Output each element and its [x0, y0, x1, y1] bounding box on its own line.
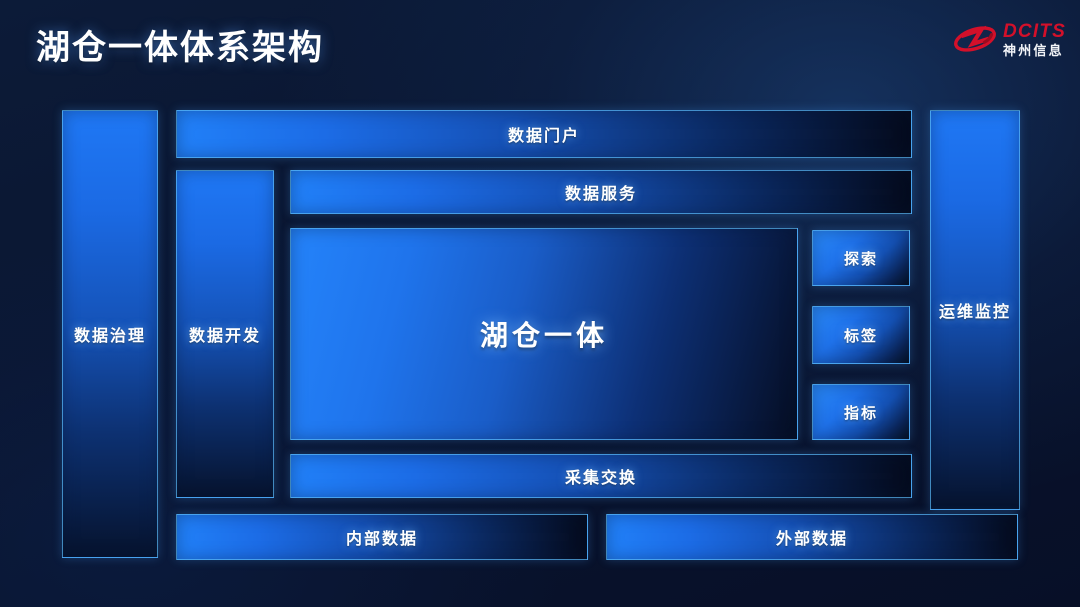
panel-data-governance[interactable]: 数据治理 [62, 110, 158, 558]
panel-data-service[interactable]: 数据服务 [290, 170, 912, 214]
panel-ops-monitoring[interactable]: 运维监控 [930, 110, 1020, 510]
page-title: 湖仓一体体系架构 [36, 20, 324, 69]
panel-ops-monitoring-label: 运维监控 [939, 298, 1011, 322]
panel-explore-label: 探索 [844, 248, 878, 269]
panel-metrics[interactable]: 指标 [812, 384, 910, 440]
panel-collect-exchange-label: 采集交换 [565, 464, 637, 488]
panel-data-portal-label: 数据门户 [508, 122, 580, 146]
panel-data-development[interactable]: 数据开发 [176, 170, 274, 498]
panel-internal-data[interactable]: 内部数据 [176, 514, 588, 560]
panel-data-development-label: 数据开发 [189, 322, 261, 346]
logo-english: DCITS [1003, 22, 1066, 41]
panel-explore[interactable]: 探索 [812, 230, 910, 286]
brand-logo: DCITS 神州信息 [953, 16, 1066, 62]
architecture-slide: 湖仓一体体系架构 DCITS 神州信息 数据治理 运维监控 数据门户 数据开发 … [0, 0, 1080, 607]
panel-external-data-label: 外部数据 [776, 525, 848, 549]
panel-data-governance-label: 数据治理 [74, 322, 146, 346]
panel-internal-data-label: 内部数据 [346, 525, 418, 549]
dcits-swirl-icon [953, 21, 997, 57]
panel-data-service-label: 数据服务 [565, 180, 637, 204]
panel-tags[interactable]: 标签 [812, 306, 910, 364]
panel-metrics-label: 指标 [844, 402, 878, 423]
panel-lakehouse[interactable]: 湖仓一体 [290, 228, 798, 440]
panel-tags-label: 标签 [844, 325, 878, 346]
logo-chinese: 神州信息 [1003, 44, 1066, 57]
logo-wordmark: DCITS 神州信息 [1003, 22, 1066, 57]
panel-lakehouse-label: 湖仓一体 [480, 314, 608, 354]
panel-external-data[interactable]: 外部数据 [606, 514, 1018, 560]
panel-data-portal[interactable]: 数据门户 [176, 110, 912, 158]
panel-collect-exchange[interactable]: 采集交换 [290, 454, 912, 498]
